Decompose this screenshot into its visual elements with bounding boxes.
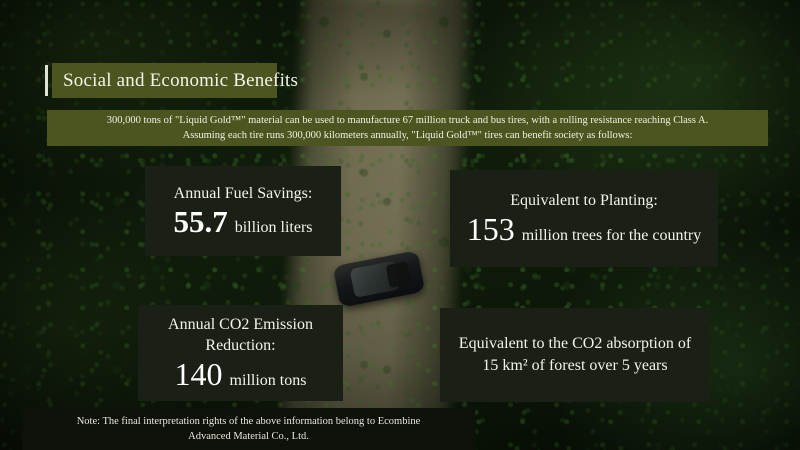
title-accent-bar: [45, 65, 48, 96]
stat-card-annual-co2-emission-reduction: Annual CO2 Emission Reduction: 140 milli…: [138, 305, 343, 401]
subtitle-line-2: Assuming each tire runs 300,000 kilomete…: [183, 128, 633, 143]
stat-number: 153: [467, 213, 515, 247]
stat-card-equivalent-co2-absorption: Equivalent to the CO2 absorption of 15 k…: [440, 308, 710, 402]
footer-note-panel: Note: The final interpretation rights of…: [22, 408, 475, 450]
stat-label: Equivalent to the CO2 absorption of: [449, 333, 701, 355]
subtitle-line-1: 300,000 tons of "Liquid Gold™" material …: [107, 113, 708, 128]
stat-value-row: 55.7 billion liters: [167, 206, 318, 239]
page-title: Social and Economic Benefits: [52, 70, 298, 92]
stat-label-line-2: 15 km² of forest over 5 years: [472, 355, 677, 377]
slide-title-band: Social and Economic Benefits: [52, 63, 277, 98]
stat-value-row: 153 million trees for the country: [461, 213, 708, 247]
stat-label: Annual Fuel Savings:: [166, 183, 321, 204]
stat-unit: million trees for the country: [522, 227, 702, 245]
slide-subtitle-band: 300,000 tons of "Liquid Gold™" material …: [47, 110, 768, 146]
stat-value-row: 140 million tons: [169, 358, 313, 392]
stat-card-equivalent-to-planting: Equivalent to Planting: 153 million tree…: [450, 170, 718, 267]
stat-card-annual-fuel-savings: Annual Fuel Savings: 55.7 billion liters: [145, 166, 341, 256]
stat-number: 55.7: [173, 206, 227, 239]
stat-label: Annual CO2 Emission: [160, 314, 321, 335]
stat-unit: million tons: [230, 372, 307, 390]
stat-unit: billion liters: [235, 219, 313, 237]
stat-label-line-2: Reduction:: [197, 335, 283, 356]
stat-number: 140: [175, 358, 223, 392]
footer-note-line-2: Advanced Material Co., Ltd.: [188, 429, 309, 444]
stat-label: Equivalent to Planting:: [502, 190, 666, 211]
slide-root: Social and Economic Benefits 300,000 ton…: [0, 0, 800, 450]
footer-note-line-1: Note: The final interpretation rights of…: [77, 414, 421, 429]
